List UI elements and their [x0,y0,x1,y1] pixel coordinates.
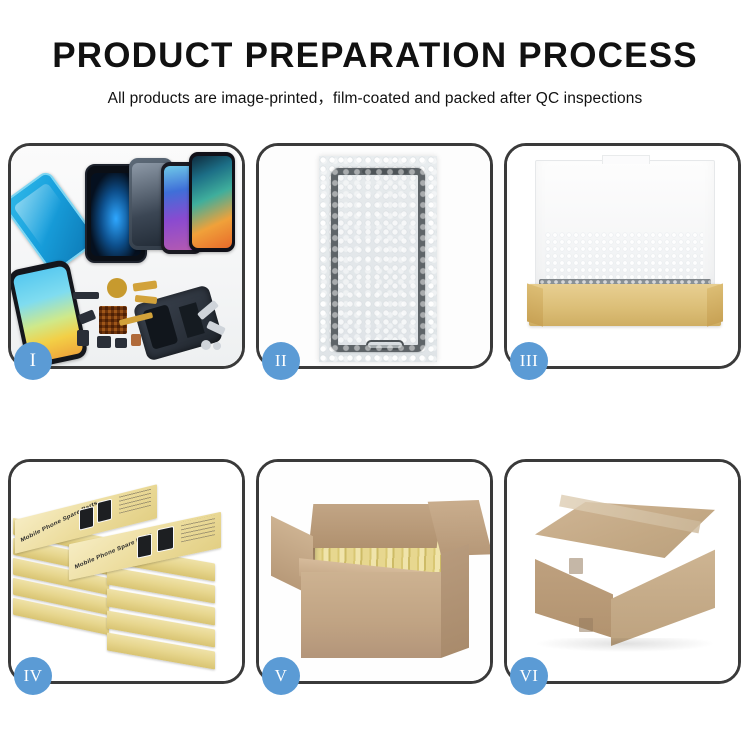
carton-flap-back [309,504,442,548]
spare-part-screw-2 [213,342,221,350]
photo-open-carton [259,462,490,681]
box-thumbnail [79,506,94,531]
spare-part-speaker [107,278,127,298]
box-stack: Mobile Phone Spare Parts Mobile Phone Sp… [11,462,242,681]
step-badge-6: VI [510,657,548,695]
spare-part-camera [97,336,111,348]
photo-sealed-carton [507,462,738,681]
step-badge-1: I [14,342,52,380]
photo-film-coated-screen [259,146,490,366]
step-badge-4: IV [14,657,52,695]
box-spec-lines [119,488,151,514]
panel-stacked-retail-boxes[interactable]: Mobile Phone Spare Parts Mobile Phone Sp… [8,459,245,684]
carton-shadow [537,638,713,652]
panel-film-coated-screen[interactable]: II [256,143,493,369]
panel-products-overview[interactable]: I [8,143,245,369]
box-thumbnail [97,499,112,524]
carton-side-face [441,544,469,658]
spare-part-screw [201,340,211,350]
panel-open-carton[interactable]: V [256,459,493,684]
spare-part-motor [131,334,141,346]
box-thumbnail [137,534,152,559]
spare-part-battery-tab [77,330,89,346]
step-badge-3: III [510,342,548,380]
page-subtitle: All products are image-printed，film-coat… [0,75,750,108]
panel-sealed-carton[interactable]: VI [504,459,741,684]
bubble-film-overlay [319,156,437,362]
spare-part-connector [73,292,99,299]
panel-boxed-screen[interactable]: III [504,143,741,369]
carton-front-face [301,572,441,658]
carton-handle-tab-bottom [579,618,593,632]
phone-flagship-unit [189,152,235,252]
spare-part-button [115,338,127,348]
step-badge-2: II [262,342,300,380]
photo-stacked-retail-boxes: Mobile Phone Spare Parts Mobile Phone Sp… [11,462,242,681]
photo-products-overview [11,146,242,366]
page-title: PRODUCT PREPARATION PROCESS [0,0,750,75]
kraft-box-tray [529,284,721,326]
box-spec-lines [181,515,215,542]
box-thumbnail [157,526,174,553]
header: PRODUCT PREPARATION PROCESS All products… [0,0,750,108]
process-step-grid: I II III [8,143,742,684]
photo-boxed-screen [507,146,738,366]
carton-handle-tab-top [569,558,583,574]
step-badge-5: V [262,657,300,695]
